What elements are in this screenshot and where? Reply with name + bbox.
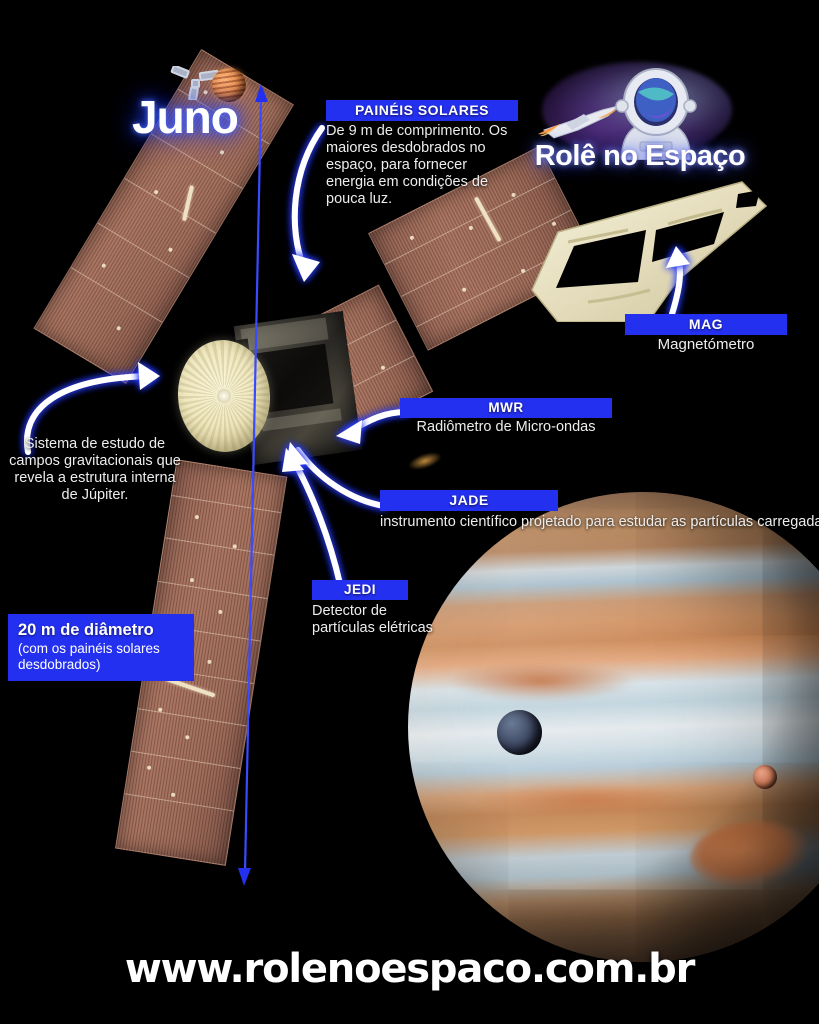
callout-gravity-science: Sistema de estudo de campos gravitaciona… [6, 436, 184, 504]
diameter-info-box: 20 m de diâmetro (com os painéis solares… [8, 614, 194, 681]
thruster-glint [407, 449, 444, 473]
juno-logo: Juno [132, 66, 252, 140]
juno-wordmark: Juno [132, 90, 238, 144]
diameter-title: 20 m de diâmetro [18, 621, 184, 640]
brand-logo: Rolê no Espaço [516, 62, 762, 184]
jupiter-limb-shading [408, 492, 819, 962]
callout-jade-tag: JADE [380, 490, 558, 511]
moon-dark [497, 710, 542, 755]
infographic-canvas: PAINÉIS SOLARES De 9 m de comprimento. O… [0, 0, 819, 1024]
callout-mag: MAG Magnetómetro [625, 314, 787, 354]
callout-mwr: MWR Radiômetro de Micro-ondas [400, 398, 612, 436]
moon-orange [753, 765, 777, 789]
callout-jedi: JEDI Detector de partículas elétricas [312, 580, 452, 637]
callout-jedi-body: Detector de partículas elétricas [312, 603, 452, 637]
antenna-hub [217, 389, 232, 404]
callout-solar-tag: PAINÉIS SOLARES [326, 100, 518, 121]
callout-solar-body: De 9 m de comprimento. Os maiores desdob… [326, 123, 518, 209]
diameter-subtitle: (com os painéis solares desdobrados) [18, 641, 184, 672]
jupiter-planet [408, 492, 819, 962]
callout-jade-body: instrumento científico projetado para es… [380, 514, 558, 531]
callout-mag-tag: MAG [625, 314, 787, 335]
callout-mwr-body: Radiômetro de Micro-ondas [400, 419, 612, 436]
callout-mwr-tag: MWR [400, 398, 612, 418]
magnetometer-boom [528, 172, 778, 322]
callout-solar-panels: PAINÉIS SOLARES De 9 m de comprimento. O… [326, 100, 518, 209]
callout-jedi-tag: JEDI [312, 580, 408, 600]
brand-wordmark: Rolê no Espaço [524, 140, 756, 173]
callout-mag-body: Magnetómetro [625, 336, 787, 354]
website-url: www.rolenoespaco.com.br [0, 946, 819, 992]
callout-gravity-body: Sistema de estudo de campos gravitaciona… [6, 436, 184, 504]
callout-jade: JADE instrumento científico projetado pa… [380, 490, 558, 531]
